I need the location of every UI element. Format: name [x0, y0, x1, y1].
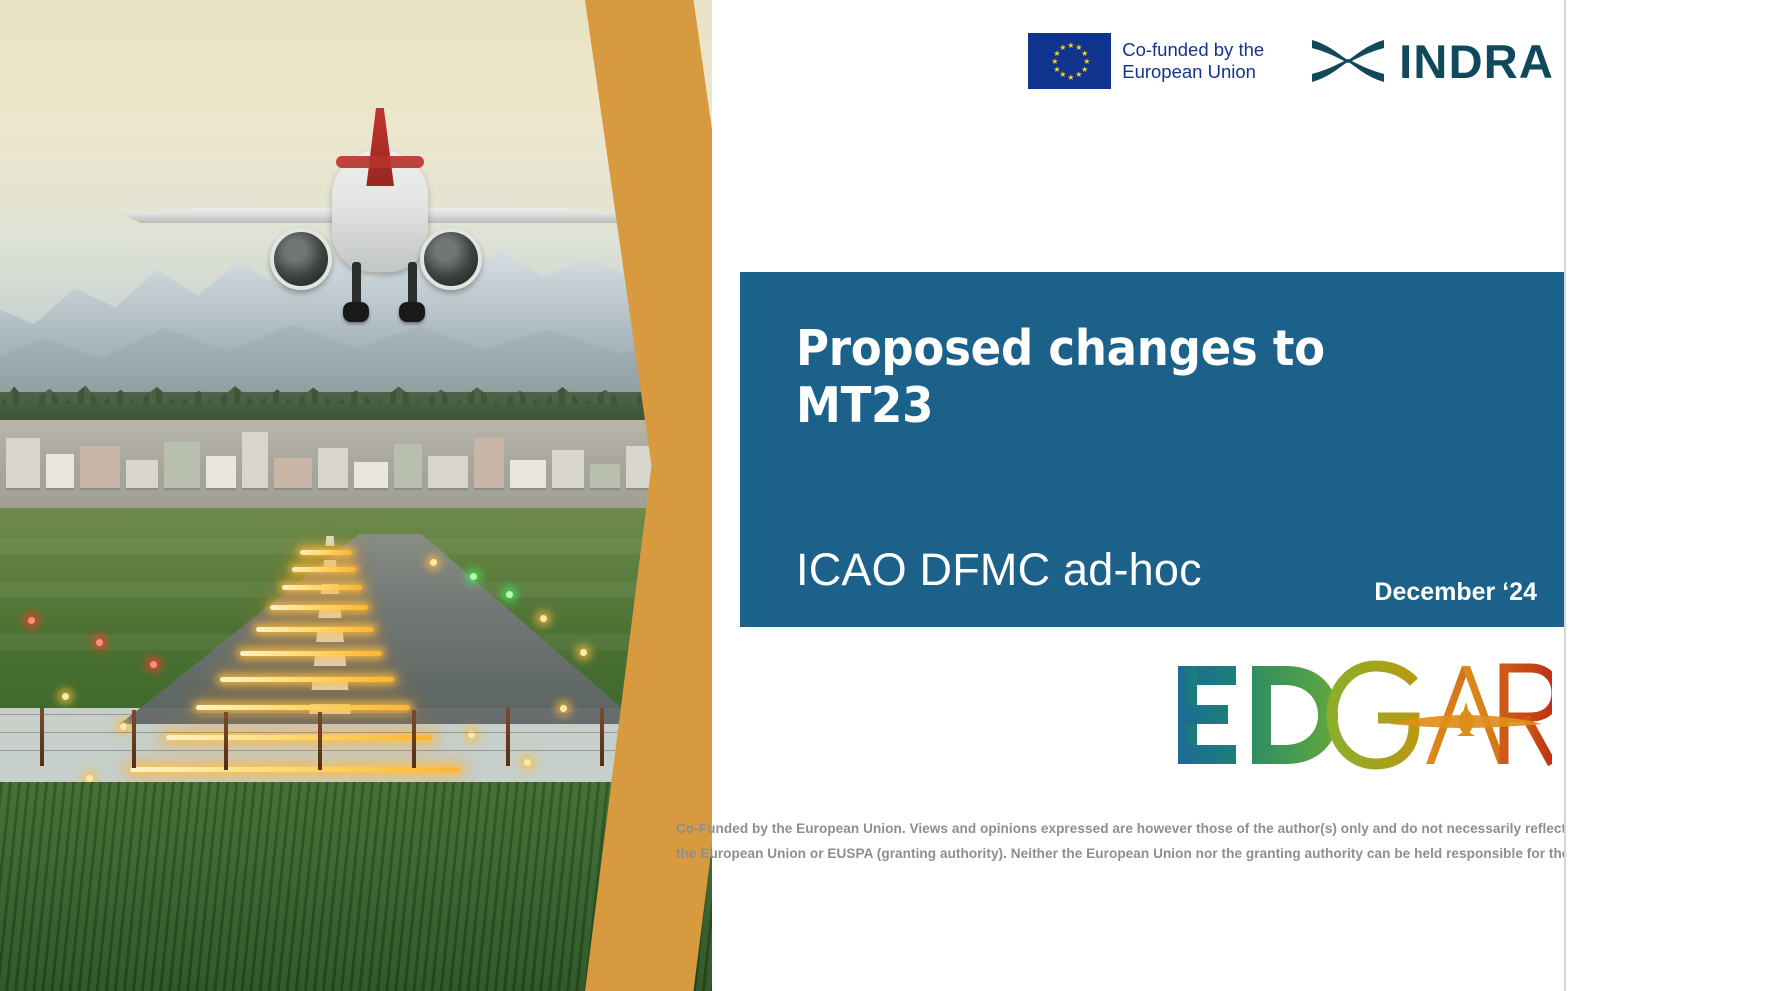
eu-star-icon: ★ [1083, 59, 1088, 64]
aircraft-tail-band [336, 156, 424, 168]
presentation-slide: ★★★★★★★★★★★★ Co-funded by the European U… [0, 0, 1766, 991]
eu-logo-line2: European Union [1122, 61, 1264, 83]
indra-logo: INDRA [1310, 36, 1554, 86]
eu-star-icon: ★ [1053, 51, 1058, 56]
landing-gear-left [352, 262, 361, 306]
edgar-letter-g [1332, 666, 1414, 764]
indra-bowtie-icon [1310, 36, 1386, 86]
eu-flag-icon: ★★★★★★★★★★★★ [1028, 33, 1111, 89]
edgar-logo [1174, 660, 1552, 770]
wheel-right [399, 302, 425, 322]
wheel-left [343, 302, 369, 322]
edgar-letter-r [1504, 668, 1552, 764]
eu-star-icon: ★ [1051, 59, 1056, 64]
eu-cofunding-logo: ★★★★★★★★★★★★ Co-funded by the European U… [1028, 33, 1264, 89]
indra-wordmark: INDRA [1399, 38, 1554, 85]
slide-title: Proposed changes to MT23 [796, 320, 1468, 434]
slide-date: December ‘24 [1374, 578, 1537, 607]
eu-star-icon: ★ [1067, 43, 1072, 48]
eu-star-icon: ★ [1067, 75, 1072, 80]
slide-outer-gutter [1566, 0, 1766, 991]
edgar-letter-e [1178, 666, 1236, 764]
eu-star-icon: ★ [1075, 45, 1080, 50]
engine-right [420, 228, 482, 290]
landing-gear-right [408, 262, 417, 306]
eu-star-icon: ★ [1053, 67, 1058, 72]
airliner-on-approach [120, 150, 640, 340]
eu-star-icon: ★ [1059, 45, 1064, 50]
eu-star-icon: ★ [1081, 51, 1086, 56]
eu-logo-line1: Co-funded by the [1122, 39, 1264, 61]
engine-left [270, 228, 332, 290]
edgar-letter-d [1252, 666, 1338, 764]
logo-row: ★★★★★★★★★★★★ Co-funded by the European U… [1028, 33, 1554, 89]
title-block: Proposed changes to MT23 ICAO DFMC ad-ho… [740, 272, 1565, 627]
eu-star-icon: ★ [1075, 72, 1080, 77]
slide-subtitle: ICAO DFMC ad-hoc [796, 544, 1202, 596]
eu-logo-text: Co-funded by the European Union [1122, 39, 1264, 82]
